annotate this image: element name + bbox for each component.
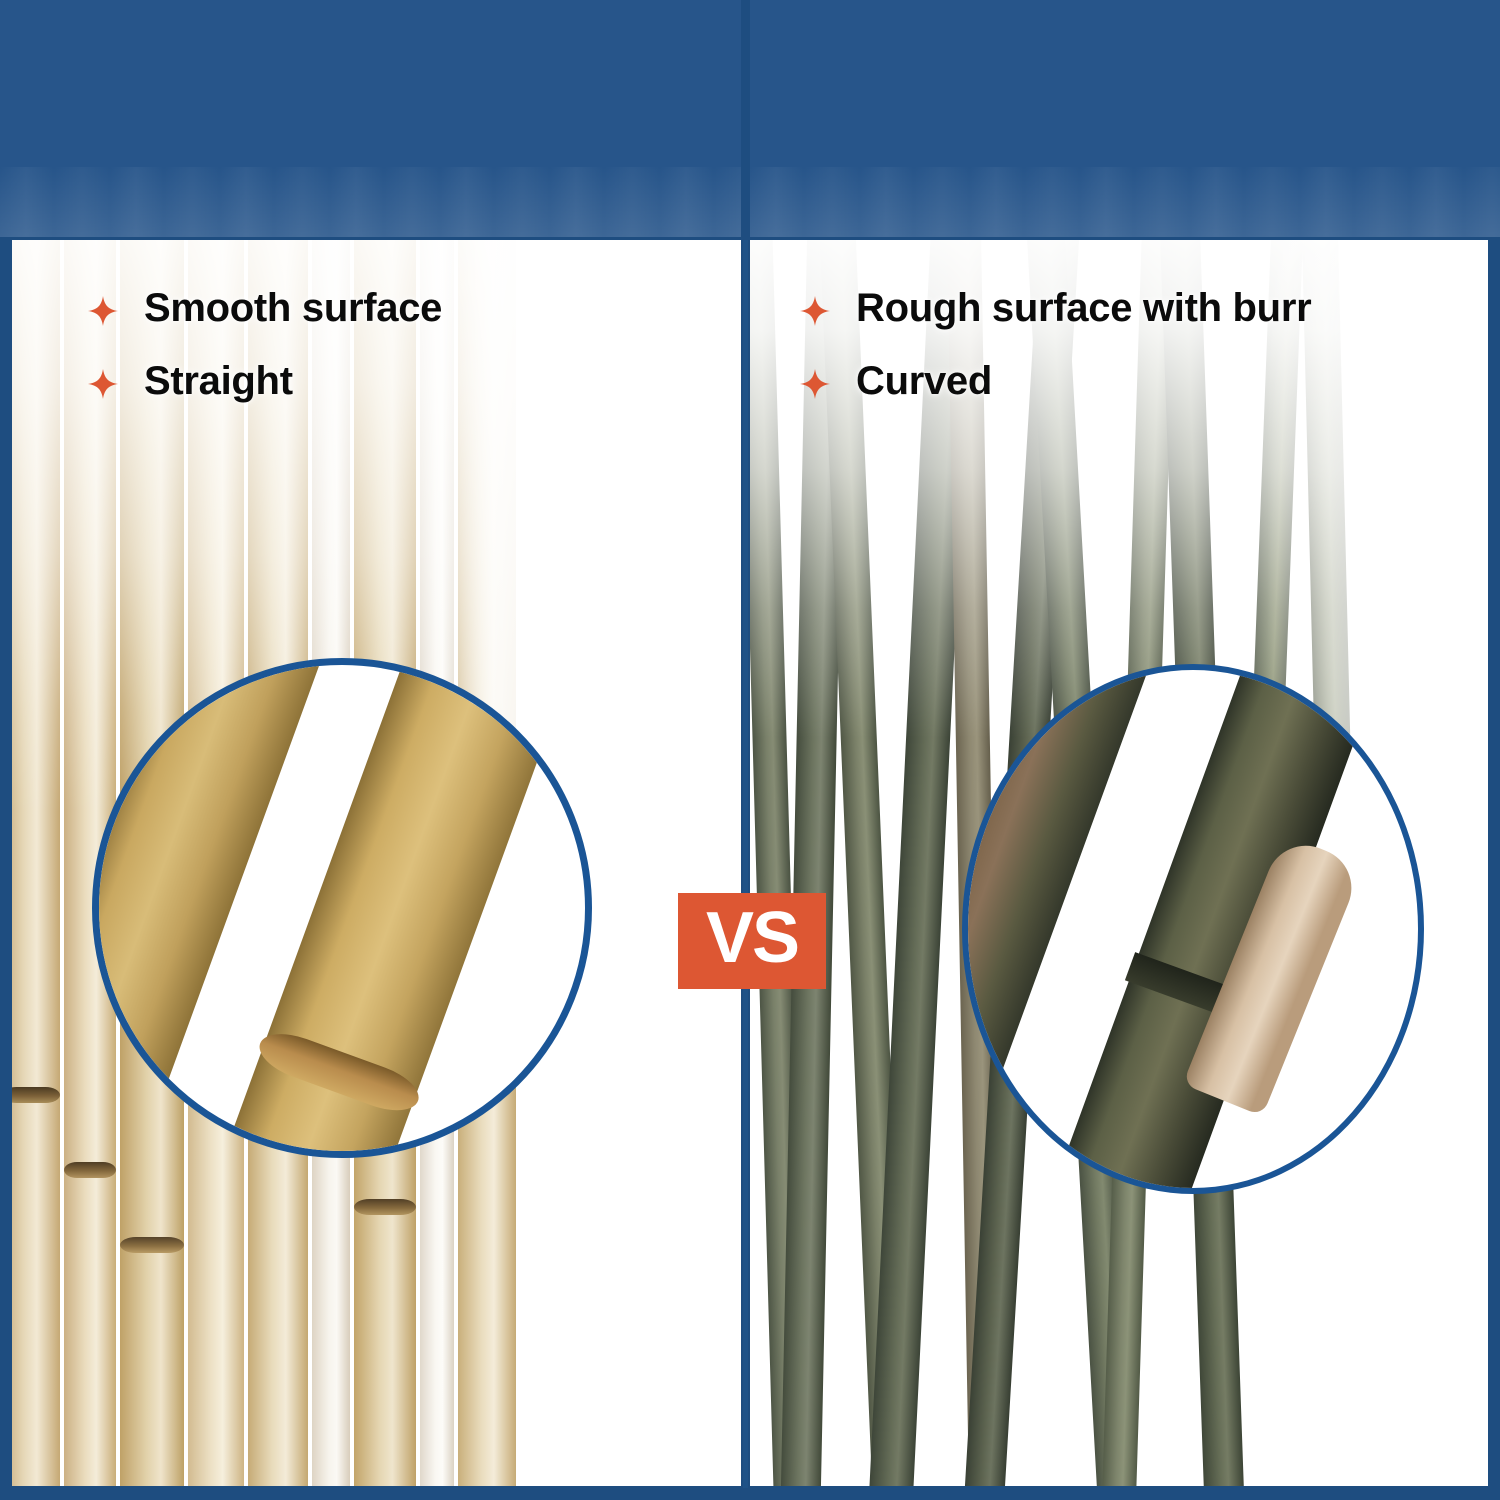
feature-row: Rough surface with burr [800,286,1311,331]
feature-list-ours: Smooth surface Straight [88,286,442,432]
header-photo-bleed-others [750,167,1500,237]
feature-label: Curved [856,359,992,404]
four-point-star-icon [88,296,118,326]
feature-label: Straight [144,359,293,404]
feature-list-others: Rough surface with burr Curved [800,286,1311,432]
feature-label: Smooth surface [144,286,442,331]
feature-row: Curved [800,359,1311,404]
vs-label: VS [706,902,798,974]
four-point-star-icon [800,296,830,326]
feature-row: Straight [88,359,442,404]
magnifier-others [962,664,1424,1194]
header-band-ours [0,0,741,237]
product-comparison-infographic: Ours Others Smooth surface Straight [0,0,1500,1500]
four-point-star-icon [88,369,118,399]
header-photo-bleed-ours [0,167,741,237]
vs-badge: VS [678,893,826,989]
feature-label: Rough surface with burr [856,286,1311,331]
four-point-star-icon [800,369,830,399]
panel-divider [743,240,748,1488]
header-band-others [750,0,1500,237]
magnifier-ours [92,658,592,1158]
feature-row: Smooth surface [88,286,442,331]
